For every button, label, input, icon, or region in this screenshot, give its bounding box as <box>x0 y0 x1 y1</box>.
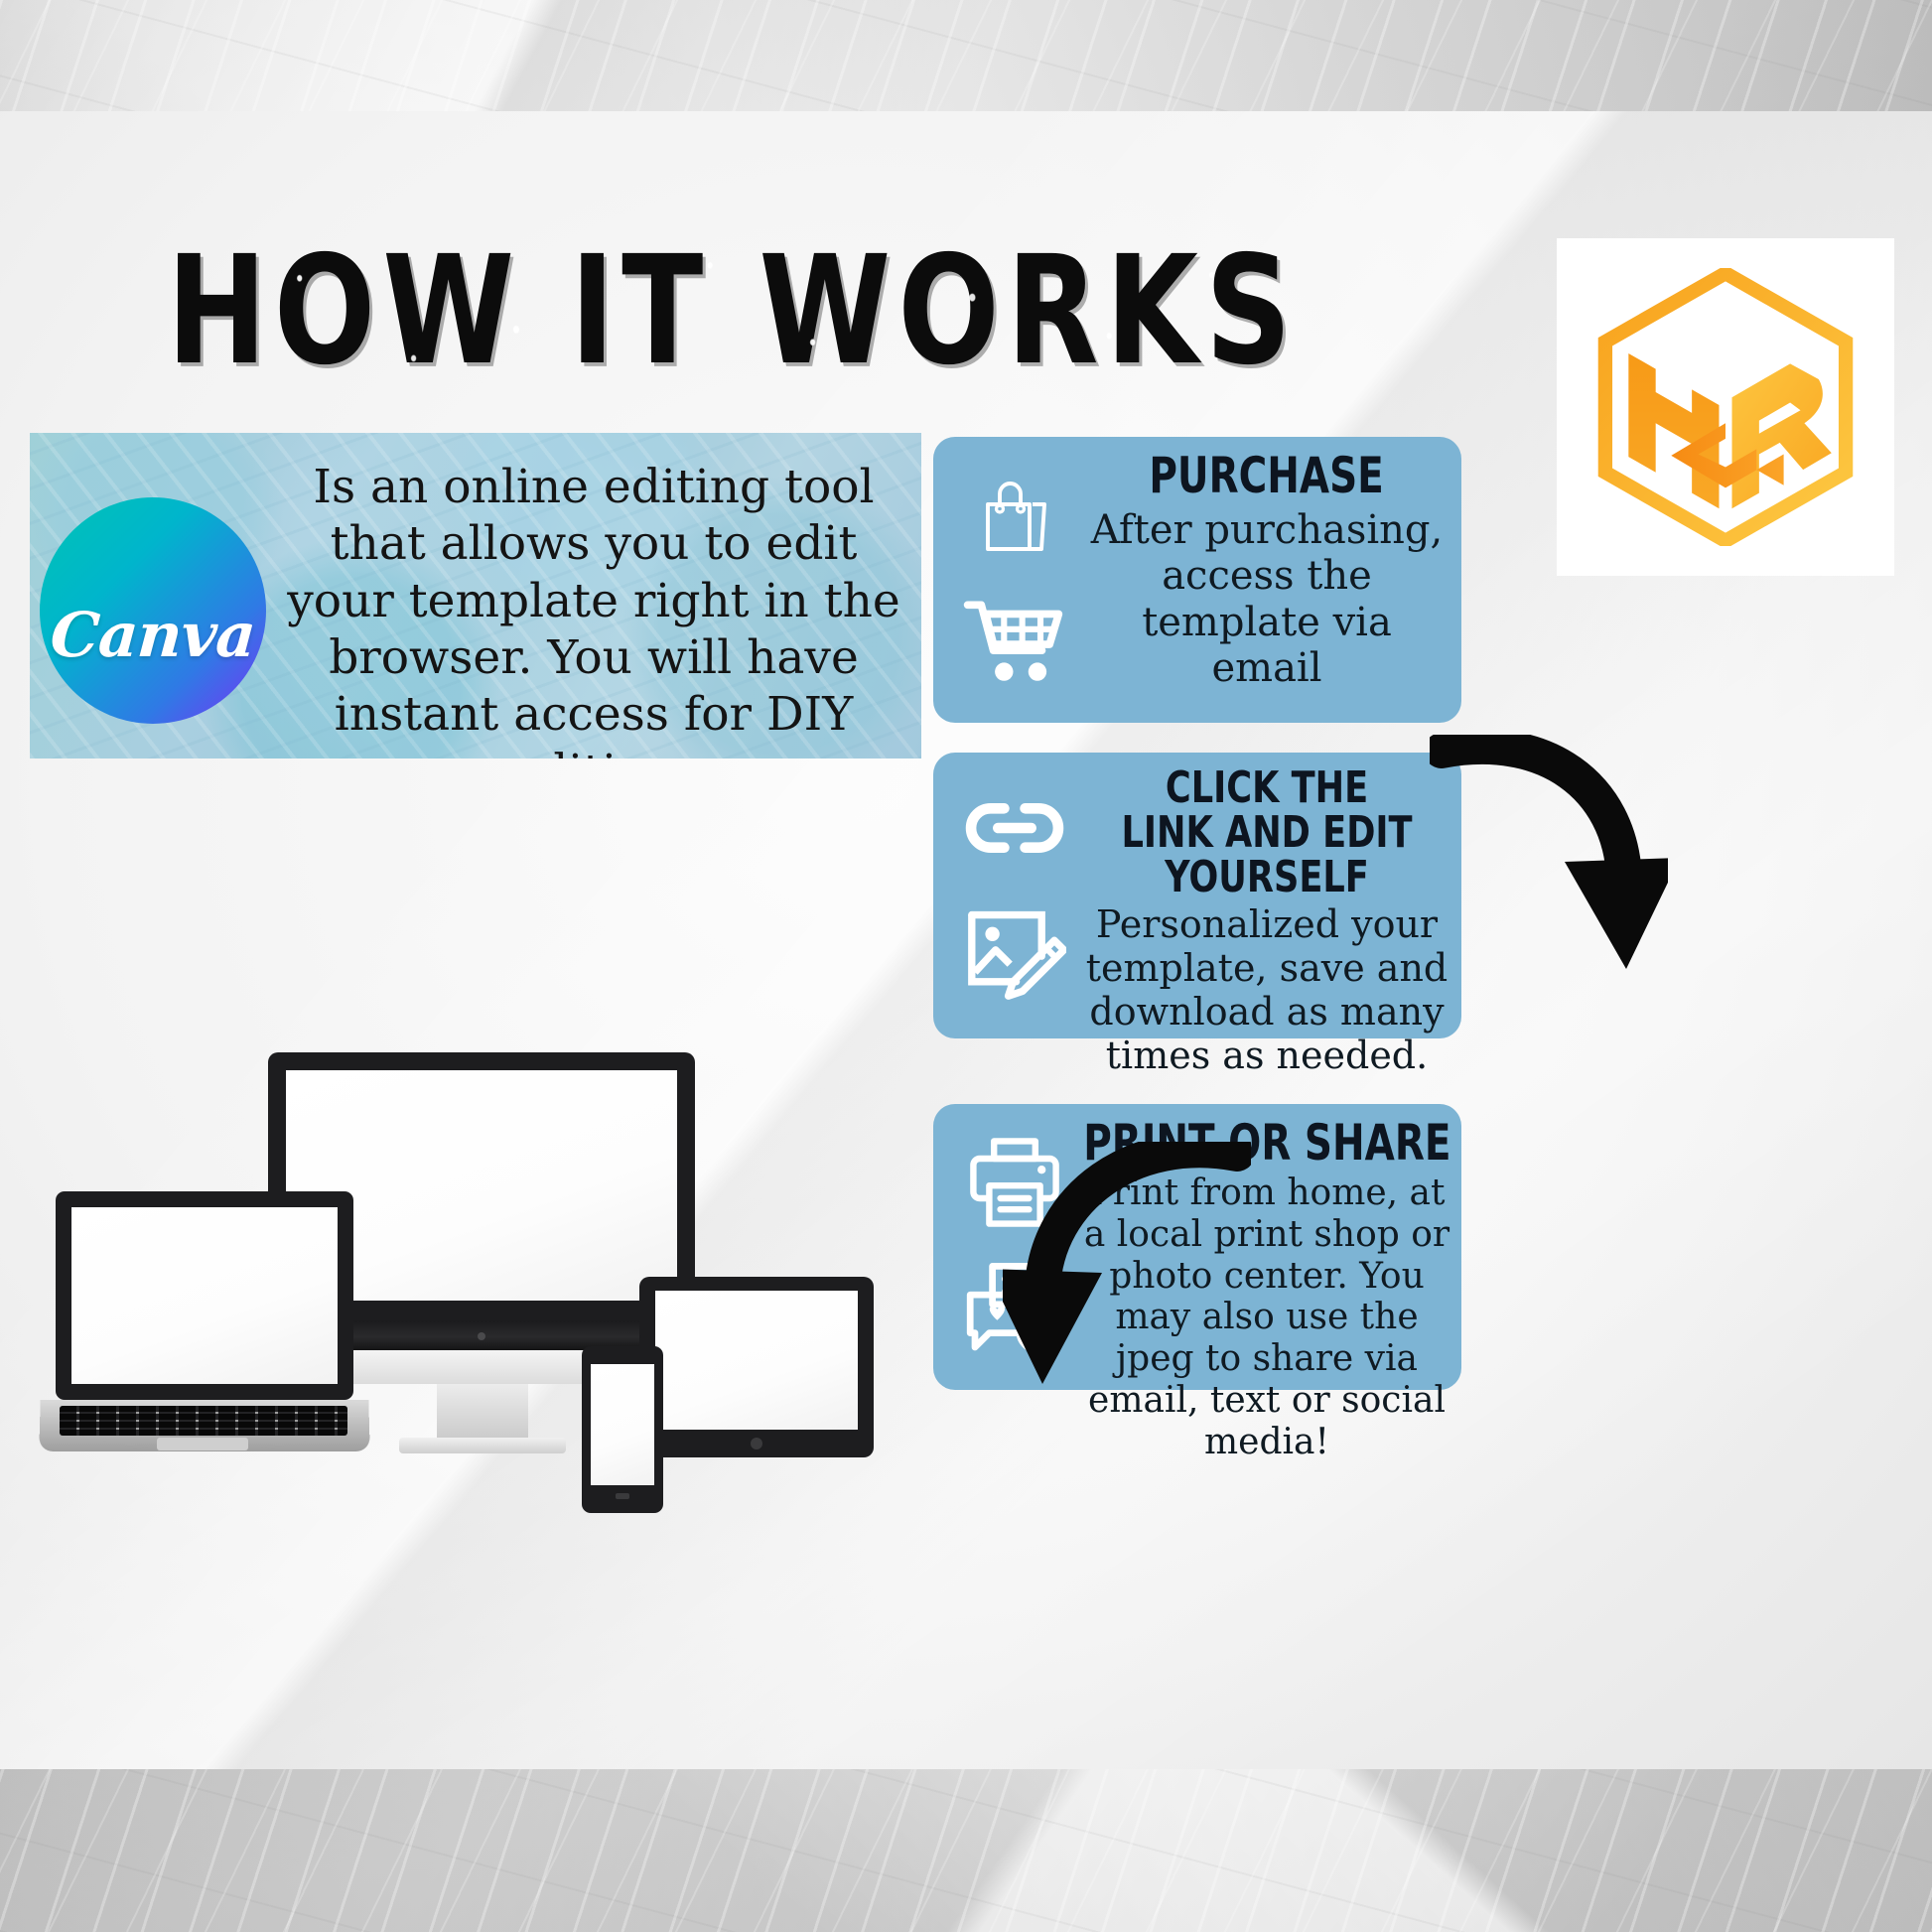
page-title-text: HOW IT WORKS <box>167 235 1299 385</box>
step-card-click-edit: CLICK THE LINK AND EDIT YOURSELF Persona… <box>933 753 1461 1038</box>
canva-wordmark: Canva <box>49 599 258 671</box>
arrow-edit-to-print <box>1003 1142 1251 1400</box>
smartphone-screen <box>591 1364 654 1485</box>
step-title-purchase: PURCHASE <box>1150 451 1384 501</box>
laptop-trackpad <box>157 1438 248 1450</box>
shopping-bag-icon <box>967 469 1062 564</box>
laptop-keyboard <box>60 1406 347 1436</box>
desktop-monitor-stand-neck <box>437 1384 528 1442</box>
step-title-click-edit: CLICK THE LINK AND EDIT YOURSELF <box>1119 766 1415 900</box>
desktop-monitor-logo-dot <box>478 1332 485 1340</box>
laptop-screen <box>71 1207 338 1384</box>
hrg-cube-icon <box>1591 268 1860 546</box>
step-body-purchase: PURCHASE After purchasing, access the te… <box>1082 451 1451 717</box>
step-card-purchase: PURCHASE After purchasing, access the te… <box>933 437 1461 723</box>
canva-description: Is an online editing tool that allows yo… <box>276 459 911 759</box>
tablet-screen <box>655 1291 858 1430</box>
arrow-purchase-to-edit <box>1430 735 1668 983</box>
shopping-cart-icon <box>963 596 1066 687</box>
canva-logo: Canva <box>40 497 266 724</box>
curved-arrow-down-left-icon <box>1003 1142 1251 1400</box>
tablet-home-button <box>751 1438 762 1449</box>
step-text-click-edit: Personalized your template, save and dow… <box>1082 902 1451 1077</box>
devices-mockup <box>40 1040 993 1596</box>
curved-arrow-down-right-icon <box>1430 735 1668 983</box>
link-chain-icon <box>965 786 1064 870</box>
infographic-canvas: HOW IT WORKS <box>0 0 1932 1932</box>
brand-logo <box>1557 238 1894 576</box>
step-body-click-edit: CLICK THE LINK AND EDIT YOURSELF Persona… <box>1082 766 1451 1033</box>
image-edit-pencil-icon <box>963 905 1066 1001</box>
step-text-purchase: After purchasing, access the template vi… <box>1082 507 1451 692</box>
desktop-monitor-stand-foot <box>399 1438 566 1453</box>
smartphone-home-button <box>616 1493 629 1499</box>
canva-info-banner: Canva Is an online editing tool that all… <box>30 433 921 759</box>
step-icons-purchase <box>951 453 1078 703</box>
page-title: HOW IT WORKS <box>167 235 1299 385</box>
step-icons-click-edit <box>951 768 1078 1019</box>
